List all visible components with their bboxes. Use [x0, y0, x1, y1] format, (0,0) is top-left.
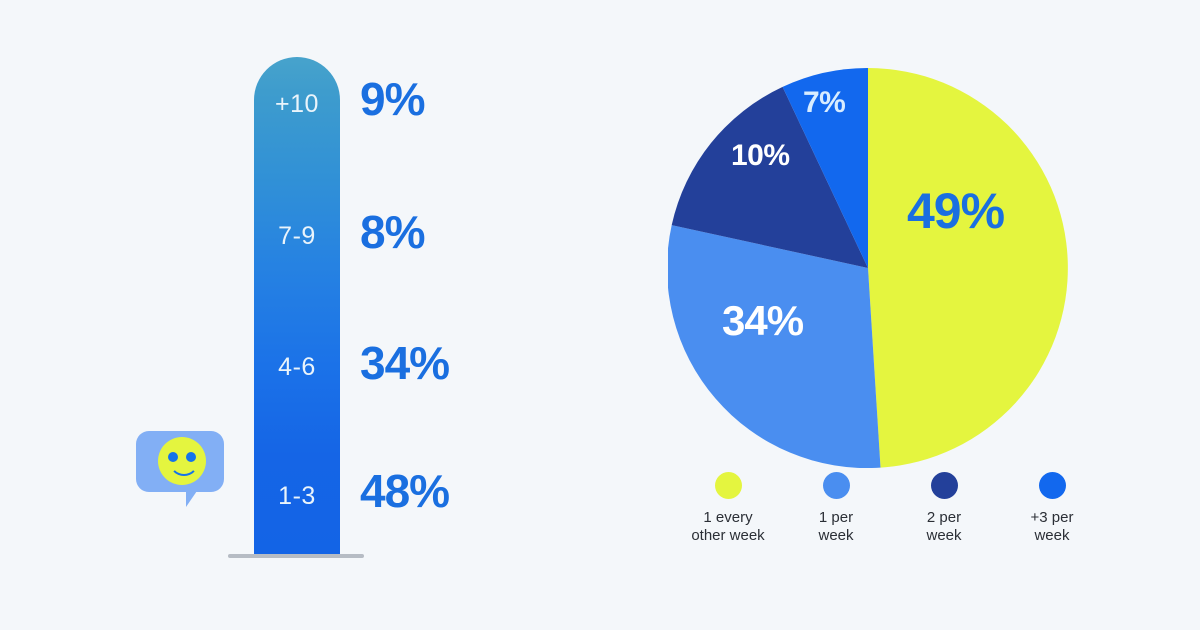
- bar-value-plus10: 9%: [360, 76, 424, 122]
- bar-segment-label-7-9: 7-9: [254, 224, 340, 249]
- bar-segment-label-plus10: +10: [254, 92, 340, 117]
- smiley-mouth-icon: [169, 459, 199, 476]
- bar-segment-label-1-3: 1-3: [254, 484, 340, 509]
- pie-slice-1-every-other-week[interactable]: [868, 68, 1068, 468]
- bar-segment-label-4-6: 4-6: [254, 355, 340, 380]
- pie-svg[interactable]: [668, 68, 1068, 468]
- legend-label: 2 per week: [926, 509, 961, 546]
- stacked-bar[interactable]: [254, 57, 340, 555]
- pie-legend: 1 every other week 1 per week 2 per week…: [680, 472, 1100, 546]
- bar-chart: +10 7-9 4-6 1-3 9% 8% 34% 48%: [0, 0, 560, 630]
- pie-value-1-per-week: 34%: [722, 300, 803, 342]
- bar-value-1-3: 48%: [360, 468, 449, 514]
- bar-value-7-9: 8%: [360, 209, 424, 255]
- speech-bubble-tail-icon: [186, 488, 208, 507]
- legend-item-3-plus-per-week[interactable]: +3 per week: [1004, 472, 1100, 546]
- legend-label: +3 per week: [1031, 509, 1074, 546]
- legend-swatch-icon: [931, 472, 958, 499]
- pie-value-3-plus-per-week: 7%: [803, 88, 845, 118]
- pie-chart: 49% 34% 10% 7% 1 every other week 1 per …: [560, 0, 1200, 630]
- legend-item-2-per-week[interactable]: 2 per week: [896, 472, 992, 546]
- infographic-canvas: +10 7-9 4-6 1-3 9% 8% 34% 48%: [0, 0, 1200, 630]
- legend-label: 1 per week: [818, 509, 853, 546]
- pie-value-2-per-week: 10%: [731, 141, 790, 171]
- smiley-face-icon: [158, 437, 206, 485]
- pie-value-1-every-other-week: 49%: [907, 186, 1004, 236]
- legend-label: 1 every other week: [691, 509, 764, 546]
- bar-smiley-badge[interactable]: [136, 431, 224, 492]
- legend-swatch-icon: [715, 472, 742, 499]
- legend-item-1-per-week[interactable]: 1 per week: [788, 472, 884, 546]
- bar-value-4-6: 34%: [360, 340, 449, 386]
- legend-item-1-every-other-week[interactable]: 1 every other week: [680, 472, 776, 546]
- legend-swatch-icon: [1039, 472, 1066, 499]
- bar-baseline: [228, 554, 364, 558]
- legend-swatch-icon: [823, 472, 850, 499]
